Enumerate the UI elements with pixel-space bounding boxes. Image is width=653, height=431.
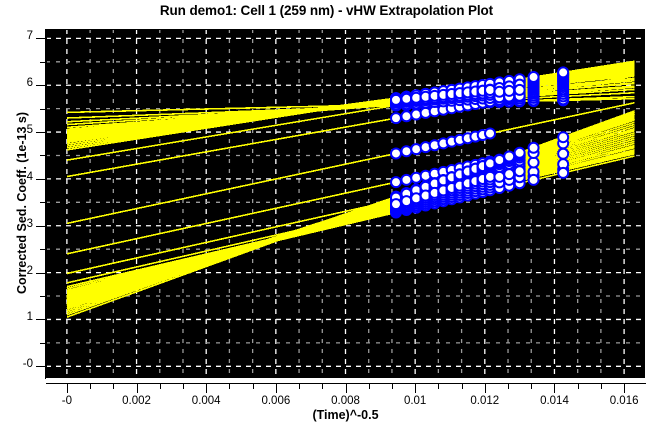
y-tick (36, 132, 45, 133)
x-tick-minor (113, 384, 114, 389)
x-tick-label: 0.006 (238, 395, 314, 407)
x-tick-minor (462, 384, 463, 389)
x-tick-minor (392, 384, 393, 389)
y-tick (36, 366, 45, 367)
y-tick (36, 179, 45, 180)
y-tick (36, 273, 45, 274)
x-tick-minor (369, 384, 370, 389)
x-tick (137, 384, 138, 393)
y-tick-minor (40, 343, 45, 344)
y-tick (36, 85, 45, 86)
x-tick (206, 384, 207, 393)
y-tick-minor (40, 249, 45, 250)
x-tick-minor (299, 384, 300, 389)
y-tick (36, 319, 45, 320)
x-tick-label: -0 (29, 395, 105, 407)
x-tick (485, 384, 486, 393)
x-tick-minor (183, 384, 184, 389)
x-tick (276, 384, 277, 393)
x-tick-label: 0.002 (99, 395, 175, 407)
chart-title: Run demo1: Cell 1 (259 nm) - vHW Extrapo… (0, 3, 653, 18)
data-layer (46, 29, 645, 378)
x-tick (624, 384, 625, 393)
y-tick-minor (40, 109, 45, 110)
x-tick-minor (531, 384, 532, 389)
x-tick-label: 0.004 (168, 395, 244, 407)
y-tick-minor (40, 155, 45, 156)
x-tick-label: 0.014 (516, 395, 592, 407)
y-axis-title: Corrected Sed. Coeff. (1e-13 s) (15, 33, 29, 373)
x-tick-minor (160, 384, 161, 389)
x-tick-minor (229, 384, 230, 389)
x-tick-minor (253, 384, 254, 389)
y-tick (36, 38, 45, 39)
y-tick (36, 226, 45, 227)
x-tick-minor (438, 384, 439, 389)
x-tick-label: 0.01 (377, 395, 453, 407)
x-tick-minor (90, 384, 91, 389)
y-tick-minor (40, 202, 45, 203)
x-tick-minor (322, 384, 323, 389)
x-tick (67, 384, 68, 393)
y-tick-minor (40, 296, 45, 297)
x-tick (415, 384, 416, 393)
x-tick-label: 0.012 (447, 395, 523, 407)
x-axis-title: (Time)^-0.5 (46, 408, 645, 422)
plot-canvas (46, 29, 645, 378)
chart-root: Run demo1: Cell 1 (259 nm) - vHW Extrapo… (0, 0, 653, 431)
y-tick-minor (40, 62, 45, 63)
y-axis-line (45, 29, 46, 379)
x-tick-label: 0.008 (308, 395, 384, 407)
x-tick (346, 384, 347, 393)
x-tick-minor (578, 384, 579, 389)
x-tick-label: 0.016 (586, 395, 653, 407)
x-tick-minor (508, 384, 509, 389)
x-tick (554, 384, 555, 393)
x-tick-minor (601, 384, 602, 389)
